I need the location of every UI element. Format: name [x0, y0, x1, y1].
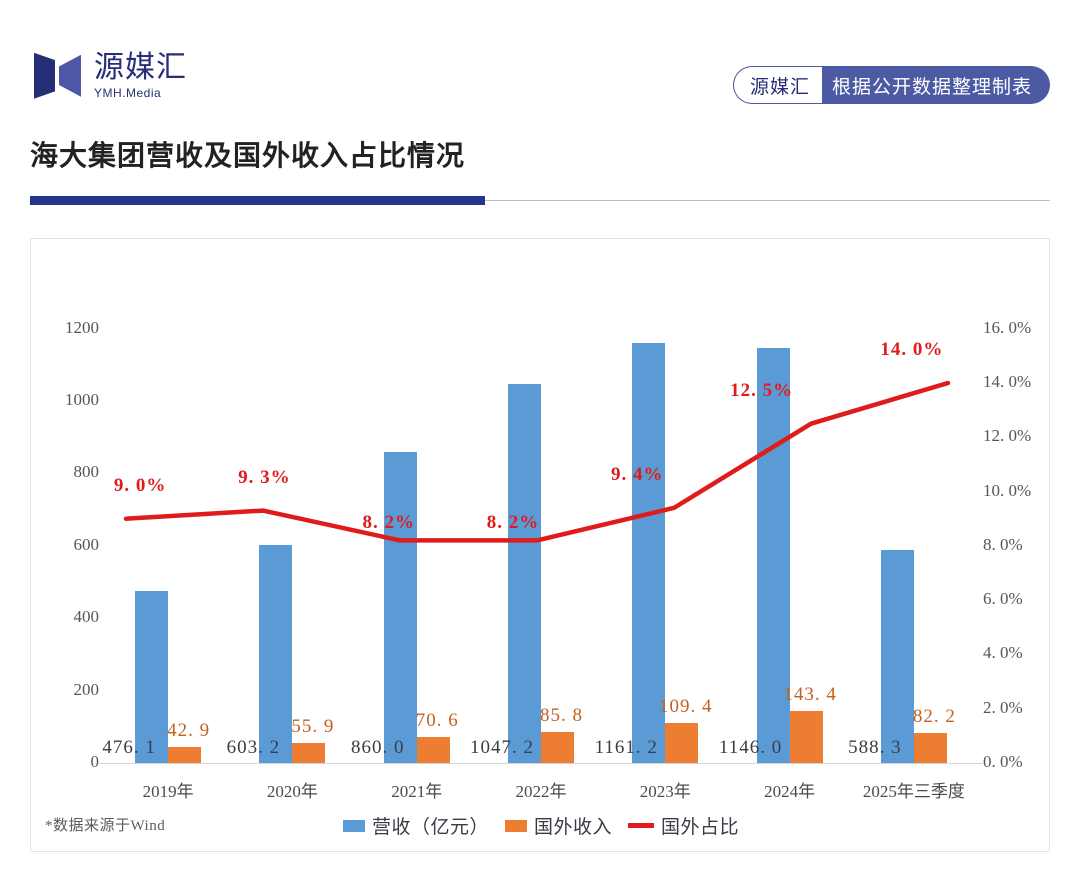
- x-axis-tick-label: 2022年: [516, 777, 567, 802]
- bar-overseas-revenue: [168, 747, 201, 763]
- y-axis-left-tick: 600: [74, 535, 100, 555]
- y-axis-left-tick: 1000: [65, 390, 99, 410]
- bar-revenue: [508, 384, 541, 763]
- x-axis-tick-label: 2023年: [640, 777, 691, 802]
- y-axis-left-tick: 0: [91, 752, 100, 772]
- chart-plot-area: 0200400600800100012000. 0%2. 0%4. 0%6. 0…: [31, 239, 1051, 853]
- legend-square-swatch-icon: [505, 820, 527, 832]
- legend-label: 营收（亿元）: [372, 812, 489, 839]
- line-label-overseas-share: 8. 2%: [362, 512, 415, 534]
- source-footnote: *数据来源于Wind: [45, 814, 165, 835]
- logo-name-cn: 源媒汇: [94, 52, 187, 84]
- x-axis-tick-label: 2020年: [267, 777, 318, 802]
- bar-label-overseas-revenue: 143. 4: [783, 684, 837, 706]
- legend-item[interactable]: 国外收入: [505, 812, 612, 839]
- legend-label: 国外收入: [534, 812, 612, 839]
- y-axis-left-tick: 200: [74, 680, 100, 700]
- legend-item[interactable]: 营收（亿元）: [343, 812, 489, 839]
- bar-label-overseas-revenue: 82. 2: [913, 706, 956, 728]
- chart-legend: 营收（亿元）国外收入国外占比: [343, 812, 739, 839]
- bar-label-revenue: 860. 0: [351, 737, 405, 759]
- bar-revenue: [881, 550, 914, 763]
- source-badge-text: 根据公开数据整理制表: [822, 66, 1050, 104]
- brand-logo: 源媒汇 YMH.Media: [34, 52, 187, 100]
- legend-item[interactable]: 国外占比: [628, 812, 739, 839]
- bar-label-overseas-revenue: 109. 4: [659, 696, 713, 718]
- bar-revenue: [259, 545, 292, 763]
- y-axis-left-tick: 800: [74, 462, 100, 482]
- bar-overseas-revenue: [914, 733, 947, 763]
- line-label-overseas-share: 12. 5%: [730, 380, 793, 402]
- title-divider: [30, 196, 1050, 206]
- x-axis-tick-label: 2024年: [764, 777, 815, 802]
- title-divider-accent: [30, 196, 485, 205]
- bar-revenue: [384, 452, 417, 763]
- y-axis-right-tick: 2. 0%: [983, 698, 1023, 718]
- bar-label-overseas-revenue: 85. 8: [540, 705, 583, 727]
- line-label-overseas-share: 9. 0%: [114, 475, 167, 497]
- y-axis-left-tick: 400: [74, 607, 100, 627]
- page-title: 海大集团营收及国外收入占比情况: [30, 138, 465, 174]
- bar-overseas-revenue: [417, 737, 450, 763]
- y-axis-right-tick: 12. 0%: [983, 426, 1031, 446]
- bar-overseas-revenue: [292, 743, 325, 763]
- y-axis-right-tick: 8. 0%: [983, 535, 1023, 555]
- x-axis-tick-label: 2021年: [391, 777, 442, 802]
- line-label-overseas-share: 9. 3%: [238, 467, 291, 489]
- x-axis-baseline: [99, 763, 983, 764]
- x-axis-tick-label: 2025年三季度: [863, 777, 965, 802]
- y-axis-left-tick: 1200: [65, 318, 99, 338]
- bar-label-revenue: 476. 1: [102, 737, 156, 759]
- y-axis-right-tick: 16. 0%: [983, 318, 1031, 338]
- bar-label-revenue: 603. 2: [227, 737, 281, 759]
- bar-overseas-revenue: [790, 711, 823, 763]
- bar-label-revenue: 1047. 2: [470, 737, 534, 759]
- source-badge: 源媒汇 根据公开数据整理制表: [733, 66, 1050, 104]
- bar-label-overseas-revenue: 55. 9: [291, 716, 334, 738]
- y-axis-right-tick: 14. 0%: [983, 372, 1031, 392]
- source-badge-tag: 源媒汇: [733, 66, 822, 104]
- bar-label-revenue: 1146. 0: [719, 737, 782, 759]
- page-title-wrap: 海大集团营收及国外收入占比情况: [30, 138, 465, 174]
- title-divider-line: [485, 200, 1050, 201]
- bar-label-overseas-revenue: 70. 6: [416, 710, 459, 732]
- logo-shape-right-icon: [59, 55, 81, 97]
- y-axis-right-tick: 4. 0%: [983, 643, 1023, 663]
- logo-shape-left-icon: [34, 53, 55, 99]
- legend-label: 国外占比: [661, 812, 739, 839]
- chart-card: 0200400600800100012000. 0%2. 0%4. 0%6. 0…: [30, 238, 1050, 852]
- bar-label-revenue: 1161. 2: [595, 737, 658, 759]
- y-axis-right-tick: 6. 0%: [983, 589, 1023, 609]
- legend-line-swatch-icon: [628, 823, 654, 828]
- page-header: 源媒汇 YMH.Media 源媒汇 根据公开数据整理制表: [0, 0, 1080, 130]
- line-label-overseas-share: 9. 4%: [611, 464, 664, 486]
- bar-overseas-revenue: [541, 732, 574, 763]
- y-axis-right-tick: 0. 0%: [983, 752, 1023, 772]
- legend-square-swatch-icon: [343, 820, 365, 832]
- bar-overseas-revenue: [665, 723, 698, 763]
- x-axis-tick-label: 2019年: [143, 777, 194, 802]
- logo-name-en: YMH.Media: [94, 86, 187, 100]
- bar-label-overseas-revenue: 42. 9: [167, 720, 210, 742]
- y-axis-right-tick: 10. 0%: [983, 481, 1031, 501]
- line-label-overseas-share: 14. 0%: [880, 339, 943, 361]
- line-label-overseas-share: 8. 2%: [487, 512, 540, 534]
- bar-label-revenue: 588. 3: [848, 737, 902, 759]
- logo-text: 源媒汇 YMH.Media: [94, 52, 187, 100]
- logo-mark-icon: [34, 53, 84, 99]
